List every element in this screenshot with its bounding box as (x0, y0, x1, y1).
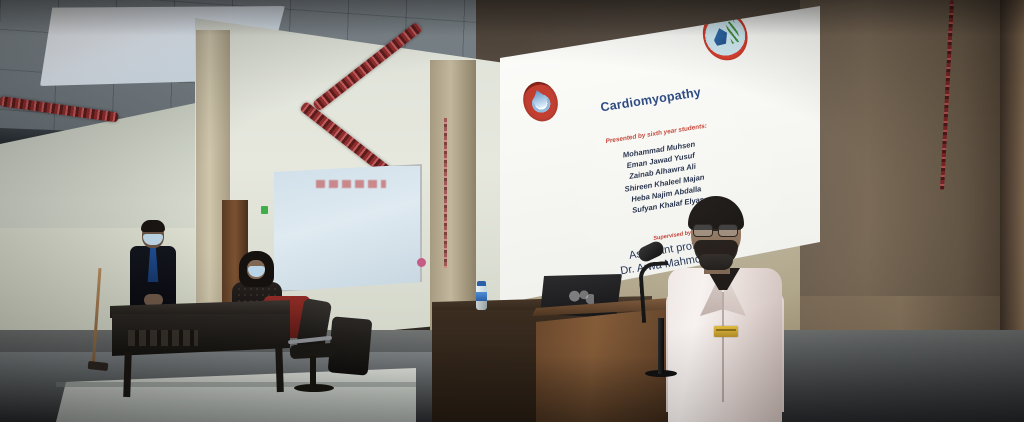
list-item: Zainab Alhawra Ali (504, 142, 822, 202)
list-item: Mohammad Muhsen (500, 120, 818, 180)
standing-attendee-hands (144, 294, 163, 306)
eyeglasses-icon (693, 224, 713, 237)
whiteboard-magnet-green (261, 206, 268, 214)
stage-edge (56, 382, 416, 387)
desk-vent-panel (128, 330, 198, 346)
whiteboard (272, 164, 422, 292)
whiteboard-writing (316, 180, 386, 188)
microphone-stand[interactable] (658, 318, 664, 374)
university-seal-logo-icon (518, 77, 563, 125)
slide-presented-label: Presented by sixth year students: (498, 106, 815, 162)
tinsel-strand-center (444, 118, 447, 268)
whiteboard-magnet-pink (417, 258, 426, 267)
laptop-screen-logo-icon (568, 288, 594, 306)
office-chair[interactable] (288, 300, 340, 360)
lecture-hall-scene: Cardiomyopathy Presented by sixth year s… (0, 0, 1024, 422)
standing-attendee (128, 222, 178, 314)
office-chair-post (310, 356, 316, 386)
eyeglasses-lens-right (718, 224, 738, 237)
water-bottle-cap (477, 281, 486, 286)
gold-name-badge (714, 326, 738, 337)
list-item: Eman Jawad Yusuf (502, 131, 820, 191)
microphone-gooseneck (638, 261, 672, 323)
office-chair-base (294, 384, 334, 392)
face-mask-icon (699, 254, 733, 270)
presenting-student (666, 196, 784, 422)
lab-coat-seam (722, 292, 724, 402)
water-bottle-label (476, 292, 487, 301)
standing-attendee-hair (141, 220, 165, 232)
slide-title: Cardiomyopathy (491, 68, 810, 131)
eyeglasses-bridge (712, 229, 719, 231)
